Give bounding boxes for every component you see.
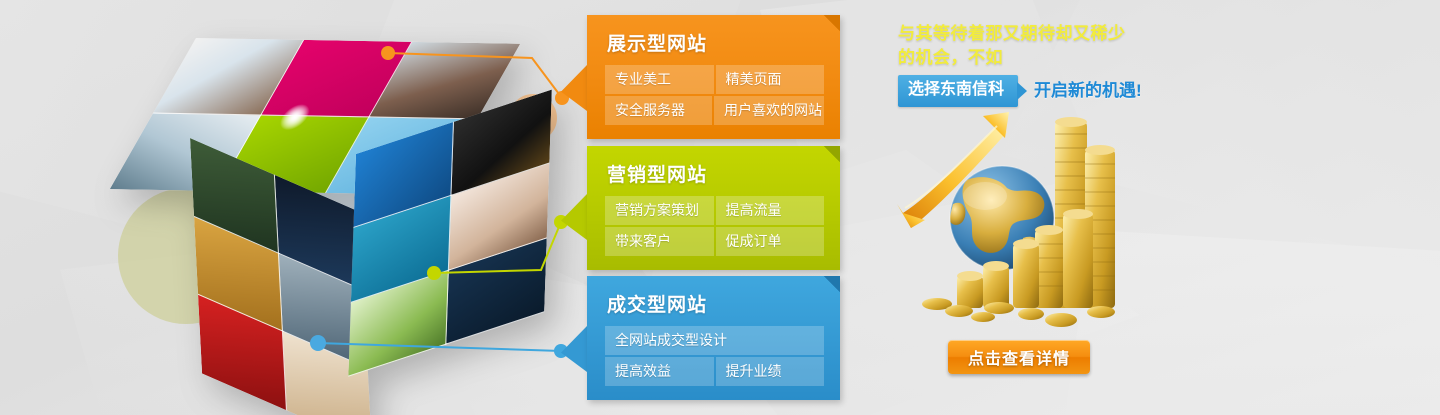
connector-dot-blue-start xyxy=(310,335,326,351)
panel-showcase[interactable]: 展示型网站 专业美工 精美页面 安全服务器 用户喜欢的网站 xyxy=(587,15,840,139)
panel-feature-rows: 营销方案策划 提高流量 带来客户 促成订单 xyxy=(605,196,824,256)
panel-marketing[interactable]: 营销型网站 营销方案策划 提高流量 带来客户 促成订单 xyxy=(587,146,840,270)
coin-stack xyxy=(1035,225,1063,308)
feature-cell[interactable]: 提高流量 xyxy=(716,196,825,225)
panel-folded-corner xyxy=(824,146,840,162)
connector-dot-orange-start xyxy=(381,46,395,60)
headline-line-1-text: 与其等待着那又期待却又稀少 xyxy=(898,24,1126,43)
panel-feature-rows: 专业美工 精美页面 安全服务器 用户喜欢的网站 xyxy=(605,65,824,125)
headline-line-1: 与其等待着那又期待却又稀少 xyxy=(898,22,1198,46)
brand-tag[interactable]: 选择东南信科 xyxy=(898,75,1018,107)
coin-stack xyxy=(1013,239,1039,308)
panel-feature-rows: 全网站成交型设计 提高效益 提升业绩 xyxy=(605,326,824,386)
panel-body: 营销型网站 营销方案策划 提高流量 带来客户 促成订单 xyxy=(587,146,840,270)
loose-coin xyxy=(1045,313,1077,327)
feature-cell[interactable]: 全网站成交型设计 xyxy=(605,326,824,355)
headline-tail-text: 开启新的机遇! xyxy=(1034,79,1142,103)
panel-feature-row: 专业美工 精美页面 xyxy=(605,65,824,94)
loose-coin xyxy=(971,312,995,322)
promo-banner: 展示型网站 专业美工 精美页面 安全服务器 用户喜欢的网站 营销型网站 营销方案… xyxy=(0,0,1440,415)
feature-cell[interactable]: 提升业绩 xyxy=(716,357,825,386)
panel-body: 展示型网站 专业美工 精美页面 安全服务器 用户喜欢的网站 xyxy=(587,15,840,139)
view-details-button[interactable]: 点击查看详情 xyxy=(948,340,1090,374)
panel-title: 成交型网站 xyxy=(607,290,824,317)
loose-coin xyxy=(1018,308,1044,320)
coin-stack xyxy=(983,261,1009,308)
panel-title: 营销型网站 xyxy=(607,160,824,187)
panel-body: 成交型网站 全网站成交型设计 提高效益 提升业绩 xyxy=(587,276,840,400)
feature-cell[interactable]: 专业美工 xyxy=(605,65,714,94)
feature-cell[interactable]: 安全服务器 xyxy=(605,96,712,125)
feature-cell[interactable]: 带来客户 xyxy=(605,227,714,256)
panel-title: 展示型网站 xyxy=(607,29,824,56)
feature-cell[interactable]: 提高效益 xyxy=(605,357,714,386)
headline-block: 与其等待着那又期待却又稀少 的机会，不如 选择东南信科 开启新的机遇! xyxy=(898,22,1198,107)
loose-coin xyxy=(984,302,1014,314)
panel-conversion[interactable]: 成交型网站 全网站成交型设计 提高效益 提升业绩 xyxy=(587,276,840,400)
panel-feature-row: 营销方案策划 提高流量 xyxy=(605,196,824,225)
headline-line-2-text: 的机会，不如 xyxy=(898,48,1003,67)
connector-dot-green-start xyxy=(427,266,441,280)
loose-coin xyxy=(1087,306,1115,318)
panel-folded-corner xyxy=(824,15,840,31)
loose-coin xyxy=(945,305,973,317)
coin-stack xyxy=(1063,209,1093,308)
feature-cell[interactable]: 精美页面 xyxy=(716,65,825,94)
panel-feature-row: 带来客户 促成订单 xyxy=(605,227,824,256)
feature-cell[interactable]: 促成订单 xyxy=(716,227,825,256)
coin-stack xyxy=(957,271,983,308)
finance-illustration xyxy=(895,108,1130,333)
connector-line-green xyxy=(434,222,561,273)
connector-line-orange xyxy=(388,53,562,98)
panel-feature-row: 安全服务器 用户喜欢的网站 xyxy=(605,96,824,125)
headline-line-2: 的机会，不如 xyxy=(898,46,1198,70)
panel-folded-corner xyxy=(824,276,840,292)
feature-cell[interactable]: 用户喜欢的网站 xyxy=(714,96,824,125)
connector-line-blue xyxy=(318,343,561,351)
panel-feature-row: 全网站成交型设计 xyxy=(605,326,824,355)
headline-line-3: 选择东南信科 开启新的机遇! xyxy=(898,75,1198,107)
panel-feature-row: 提高效益 提升业绩 xyxy=(605,357,824,386)
feature-cell[interactable]: 营销方案策划 xyxy=(605,196,714,225)
